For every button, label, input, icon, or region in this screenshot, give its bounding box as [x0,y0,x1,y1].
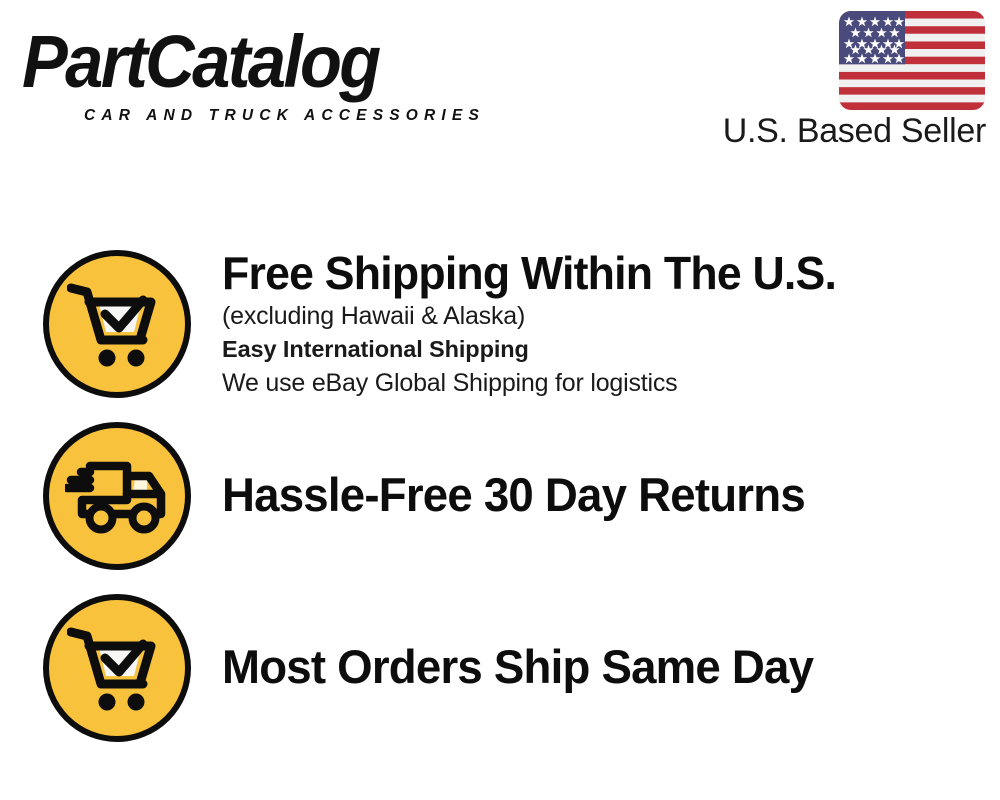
feature-title: Most Orders Ship Same Day [222,641,977,693]
shopping-cart-check-icon [43,250,191,398]
us-based-seller-label: U.S. Based Seller [723,112,986,151]
feature-row: Free Shipping Within The U.S. (excluding… [0,243,1000,405]
feature-title: Hassle-Free 30 Day Returns [222,469,977,521]
banner-header: PartCatalog CAR AND TRUCK ACCESSORIES [0,0,1000,175]
shopping-cart-check-icon [43,594,191,742]
feature-subtitle-1: (excluding Hawaii & Alaska) [222,299,1000,333]
promo-banner: PartCatalog CAR AND TRUCK ACCESSORIES [0,0,1000,800]
feature-title: Free Shipping Within The U.S. [222,247,977,299]
feature-subtitle-2: Easy International Shipping [222,333,1000,366]
feature-row: Hassle-Free 30 Day Returns [0,415,1000,577]
feature-text-block: Most Orders Ship Same Day [222,641,1000,695]
brand-tagline: CAR AND TRUCK ACCESSORIES [84,107,485,125]
feature-row: Most Orders Ship Same Day [0,587,1000,749]
delivery-truck-icon [43,422,191,570]
us-flag-icon [839,11,985,110]
brand-wordmark: PartCatalog [22,22,379,100]
feature-text-block: Hassle-Free 30 Day Returns [222,469,1000,523]
feature-text-block: Free Shipping Within The U.S. (excluding… [222,247,1000,402]
feature-subtitle-3: We use eBay Global Shipping for logistic… [222,366,1000,400]
partcatalog-logo: PartCatalog CAR AND TRUCK ACCESSORIES [22,22,492,114]
